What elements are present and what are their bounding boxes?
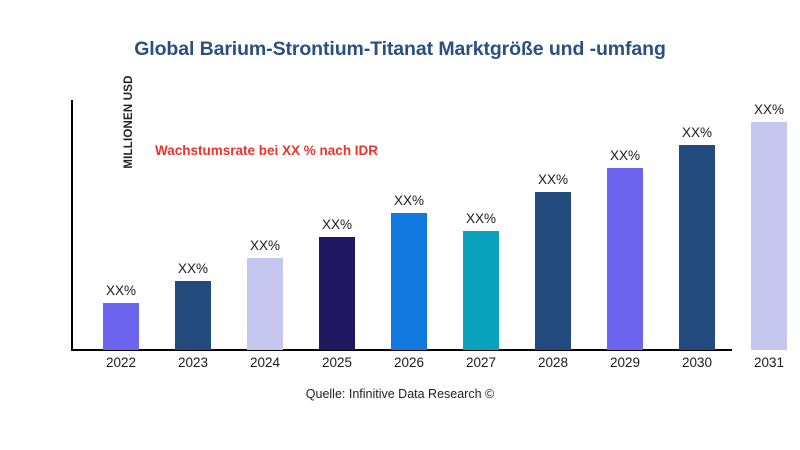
bar-group-2022[interactable]: XX% xyxy=(103,100,139,350)
bar-value-label-2023: XX% xyxy=(161,261,225,276)
bar-value-label-2024: XX% xyxy=(233,238,297,253)
bar-value-label-2026: XX% xyxy=(377,193,441,208)
bar-2028[interactable] xyxy=(535,192,571,350)
x-tick-2027: 2027 xyxy=(449,355,513,370)
source-caption: Quelle: Infinitive Data Research © xyxy=(0,387,800,401)
bar-value-label-2031: XX% xyxy=(737,102,800,117)
bar-2026[interactable] xyxy=(391,213,427,350)
x-tick-2026: 2026 xyxy=(377,355,441,370)
bar-2025[interactable] xyxy=(319,237,355,350)
x-tick-2030: 2030 xyxy=(665,355,729,370)
bar-value-label-2025: XX% xyxy=(305,217,369,232)
bar-group-2029[interactable]: XX% xyxy=(607,100,643,350)
x-tick-2022: 2022 xyxy=(89,355,153,370)
bar-2030[interactable] xyxy=(679,145,715,350)
x-tick-2024: 2024 xyxy=(233,355,297,370)
y-axis-label: MILLIONEN USD xyxy=(10,0,32,122)
x-tick-2025: 2025 xyxy=(305,355,369,370)
bar-2031[interactable] xyxy=(751,122,787,350)
x-tick-2031: 2031 xyxy=(737,355,800,370)
bar-2022[interactable] xyxy=(103,303,139,350)
bar-2029[interactable] xyxy=(607,168,643,350)
bars-layer: XX%XX%XX%XX%XX%XX%XX%XX%XX%XX% xyxy=(71,100,800,350)
bar-group-2027[interactable]: XX% xyxy=(463,100,499,350)
bar-group-2030[interactable]: XX% xyxy=(679,100,715,350)
bar-2027[interactable] xyxy=(463,231,499,350)
x-tick-2023: 2023 xyxy=(161,355,225,370)
bar-value-label-2027: XX% xyxy=(449,211,513,226)
bar-value-label-2030: XX% xyxy=(665,125,729,140)
chart-canvas: Global Barium-Strontium-Titanat Marktgrö… xyxy=(0,0,800,450)
bar-group-2026[interactable]: XX% xyxy=(391,100,427,350)
x-tick-2029: 2029 xyxy=(593,355,657,370)
bar-value-label-2029: XX% xyxy=(593,148,657,163)
bar-value-label-2028: XX% xyxy=(521,172,585,187)
bar-2024[interactable] xyxy=(247,258,283,350)
bar-value-label-2022: XX% xyxy=(89,283,153,298)
x-tick-2028: 2028 xyxy=(521,355,585,370)
chart-title: Global Barium-Strontium-Titanat Marktgrö… xyxy=(0,38,800,61)
bar-2023[interactable] xyxy=(175,281,211,350)
bar-group-2031[interactable]: XX% xyxy=(751,100,787,350)
bar-group-2025[interactable]: XX% xyxy=(319,100,355,350)
bar-group-2023[interactable]: XX% xyxy=(175,100,211,350)
bar-group-2028[interactable]: XX% xyxy=(535,100,571,350)
x-axis-tick-labels: 2022202320242025202620272028202920302031 xyxy=(71,355,800,377)
bar-group-2024[interactable]: XX% xyxy=(247,100,283,350)
